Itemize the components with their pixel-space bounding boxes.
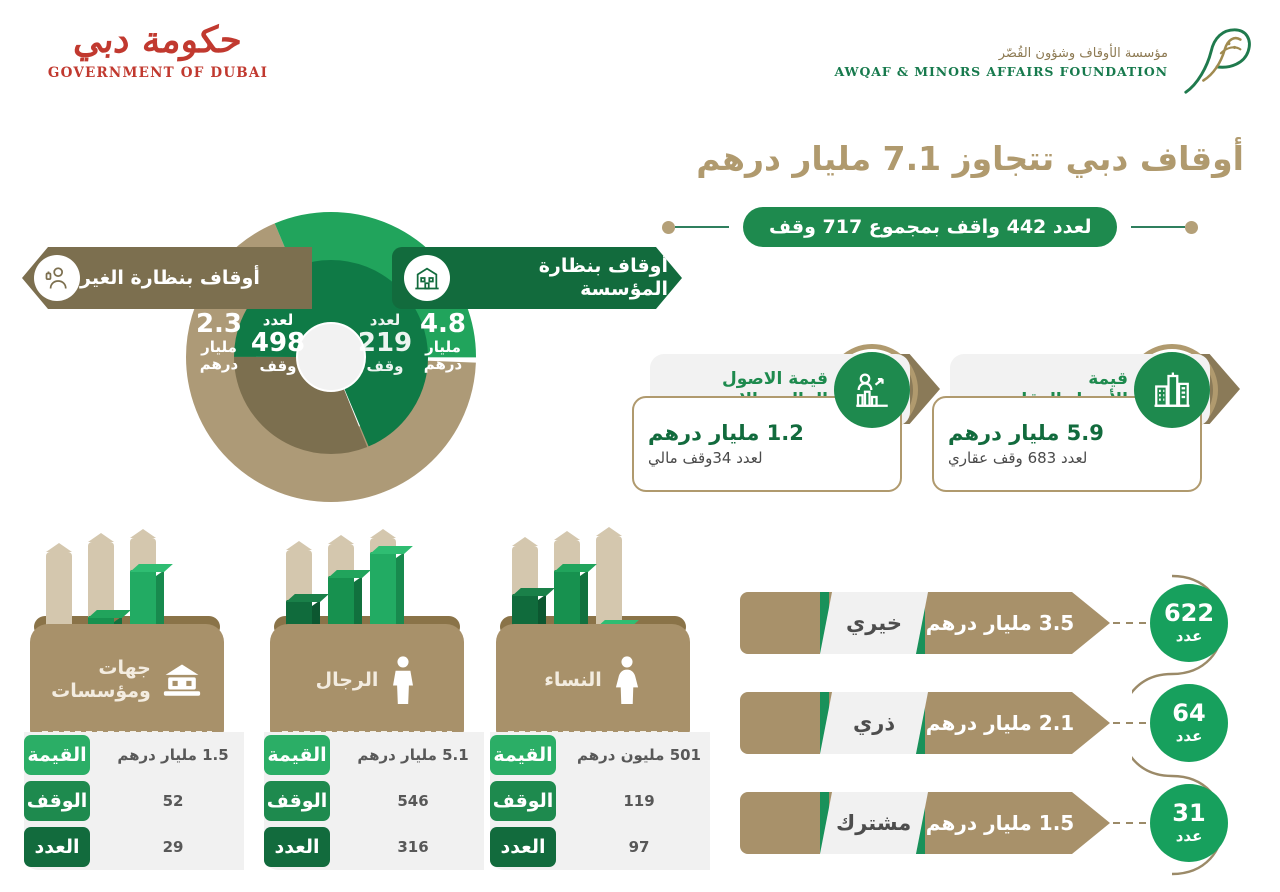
connector-left: [1131, 221, 1202, 234]
bucket-name-line2: ومؤسسات: [51, 680, 151, 703]
connector-right: [658, 221, 729, 234]
woman-icon: [612, 656, 642, 704]
bucket-men-name: الرجال: [316, 669, 379, 692]
purpose-row-joint: 1.5 مليار درهم مشترك: [740, 792, 1110, 854]
banner-foundation-endowments: أوقاف بنظارة المؤسسة: [392, 247, 682, 309]
purpose-count-charitable: 622 عدد: [1150, 584, 1228, 662]
dash-connector: [1113, 822, 1147, 824]
asset-real-estate-value: 5.9 مليار درهم: [948, 421, 1104, 445]
row-value-endowments: 52: [88, 778, 244, 824]
purpose-label-charitable-box: خيري: [820, 592, 928, 654]
banner-third-party-label: أوقاف بنظارة الغير: [80, 267, 260, 290]
bucket-name-line1: الرجال: [316, 669, 379, 692]
asset-financial-value: 1.2 مليار درهم: [648, 421, 804, 445]
asset-real-estate-detail: لعدد 683 وقف عقاري: [948, 449, 1087, 467]
government-of-dubai-logo: حكومة دبي GOVERNMENT OF DUBAI: [38, 22, 278, 97]
purpose-label-joint-box: مشترك: [820, 792, 928, 854]
table-row: القيمة 1.5 مليار درهم: [24, 732, 236, 778]
bucket-name-line1: جهات: [51, 657, 151, 680]
purpose-amount-charitable: 3.5 مليار درهم: [740, 611, 1110, 635]
table-row: الوقف 119: [490, 778, 702, 824]
bucket-women-rows: القيمة 501 مليون درهم الوقف 119 العدد 97: [490, 732, 702, 870]
bucket-jar: الرجال: [270, 624, 464, 736]
man-icon: [388, 656, 418, 704]
row-value-value: 1.5 مليار درهم: [88, 732, 244, 778]
gov-logo-english: GOVERNMENT OF DUBAI: [38, 65, 278, 81]
asset-card-financial: قيمة الاصول المالية والاسهم 1.2 مليار در…: [632, 330, 932, 510]
table-row: العدد 29: [24, 824, 236, 870]
purpose-amount-joint: 1.5 مليار درهم: [740, 811, 1110, 835]
table-row: الوقف 546: [264, 778, 476, 824]
asset-title-line1: قيمة: [950, 369, 1128, 390]
bucket-men-rows: القيمة 5.1 مليار درهم الوقف 546 العدد 31…: [264, 732, 476, 870]
purpose-row-charitable: 3.5 مليار درهم خيري: [740, 592, 1110, 654]
asset-title-line1: قيمة الاصول: [650, 369, 828, 390]
purpose-label-family-box: ذري: [820, 692, 928, 754]
bucket-jar: جهات ومؤسسات: [30, 624, 224, 736]
table-row: القيمة 5.1 مليار درهم: [264, 732, 476, 778]
infographic-canvas: حكومة دبي GOVERNMENT OF DUBAI مؤسسة الأو…: [0, 0, 1280, 892]
row-value-endowments: 546: [328, 778, 484, 824]
purpose-row-family: 2.1 مليار درهم ذري: [740, 692, 1110, 754]
purpose-count-family: 64 عدد: [1150, 684, 1228, 762]
buildings-icon: [1134, 352, 1210, 428]
row-label-value: القيمة: [490, 735, 556, 775]
purpose-count-unit: عدد: [1176, 627, 1203, 645]
banner-third-party-endowments: أوقاف بنظارة الغير: [22, 247, 312, 309]
awqaf-foundation-logo: مؤسسة الأوقاف وشؤون القُصّر AWQAF & MINO…: [835, 22, 1256, 102]
purpose-count-number: 64: [1172, 701, 1205, 725]
awqaf-logo-english: AWQAF & MINORS AFFAIRS FOUNDATION: [835, 64, 1168, 79]
bucket-name-line1: النساء: [544, 669, 602, 692]
row-label-value: القيمة: [24, 735, 90, 775]
row-label-endowments: الوقف: [24, 781, 90, 821]
connector-dot-left: [1185, 221, 1198, 234]
row-label-count: العدد: [24, 827, 90, 867]
row-label-count: العدد: [490, 827, 556, 867]
awqaf-logo-text: مؤسسة الأوقاف وشؤون القُصّر AWQAF & MINO…: [835, 46, 1168, 79]
asset-card-real-estate: قيمة الأصول العقارية 5.9 مليار درهم لعدد…: [932, 330, 1232, 510]
donut-hole: [298, 324, 364, 390]
person-trustee-icon: [34, 255, 80, 301]
row-value-endowments: 119: [554, 778, 710, 824]
purpose-label-charitable: خيري: [846, 611, 902, 635]
row-value-value: 501 مليون درهم: [554, 732, 710, 778]
totals-badge: لعدد 442 واقف بمجموع 717 وقف: [743, 207, 1117, 247]
purpose-count-number: 622: [1164, 601, 1214, 625]
table-row: الوقف 52: [24, 778, 236, 824]
bucket-organizations-name: جهات ومؤسسات: [51, 657, 151, 703]
purpose-count-unit: عدد: [1176, 827, 1203, 845]
table-row: العدد 97: [490, 824, 702, 870]
bucket-card-men: الرجال القيمة 5.1 مليار درهم الوقف 546 ا…: [258, 512, 476, 872]
bucket-card-women: النساء القيمة 501 مليون درهم الوقف 119 ا…: [484, 512, 702, 872]
banner-foundation-label: أوقاف بنظارة المؤسسة: [450, 255, 668, 301]
row-label-endowments: الوقف: [490, 781, 556, 821]
row-label-count: العدد: [264, 827, 330, 867]
bucket-card-organizations: جهات ومؤسسات القيمة 1.5 مليار درهم الوقف…: [18, 512, 236, 872]
purpose-label-joint: مشترك: [836, 811, 911, 835]
building-icon: [404, 255, 450, 301]
row-label-endowments: الوقف: [264, 781, 330, 821]
purpose-count-unit: عدد: [1176, 727, 1203, 745]
row-label-value: القيمة: [264, 735, 330, 775]
purpose-count-joint: 31 عدد: [1150, 784, 1228, 862]
awqaf-logo-arabic: مؤسسة الأوقاف وشؤون القُصّر: [835, 46, 1168, 61]
awqaf-calligraphy-mark-icon: [1178, 24, 1256, 100]
finance-chart-person-icon: [834, 352, 910, 428]
institution-icon: [161, 661, 203, 699]
connector-line-left: [1131, 226, 1185, 228]
row-value-value: 5.1 مليار درهم: [328, 732, 484, 778]
subtitle-row: لعدد 442 واقف بمجموع 717 وقف: [644, 205, 1244, 249]
row-value-count: 97: [554, 824, 710, 870]
gov-logo-arabic: حكومة دبي: [36, 22, 280, 58]
dash-connector: [1113, 722, 1147, 724]
dash-connector: [1113, 622, 1147, 624]
asset-financial-detail: لعدد 34وقف مالي: [648, 449, 763, 467]
bucket-organizations-rows: القيمة 1.5 مليار درهم الوقف 52 العدد 29: [24, 732, 236, 870]
bucket-women-name: النساء: [544, 669, 602, 692]
purpose-amount-family: 2.1 مليار درهم: [740, 711, 1110, 735]
purpose-label-family: ذري: [853, 711, 895, 735]
row-value-count: 29: [88, 824, 244, 870]
bucket-jar: النساء: [496, 624, 690, 736]
purpose-count-number: 31: [1172, 801, 1205, 825]
row-value-count: 316: [328, 824, 484, 870]
connector-line-right: [675, 226, 729, 228]
table-row: العدد 316: [264, 824, 476, 870]
page-title: أوقاف دبي تتجاوز 7.1 مليار درهم: [644, 138, 1244, 179]
main-headline: أوقاف دبي تتجاوز 7.1 مليار درهم: [644, 138, 1244, 179]
table-row: القيمة 501 مليون درهم: [490, 732, 702, 778]
connector-dot-right: [662, 221, 675, 234]
